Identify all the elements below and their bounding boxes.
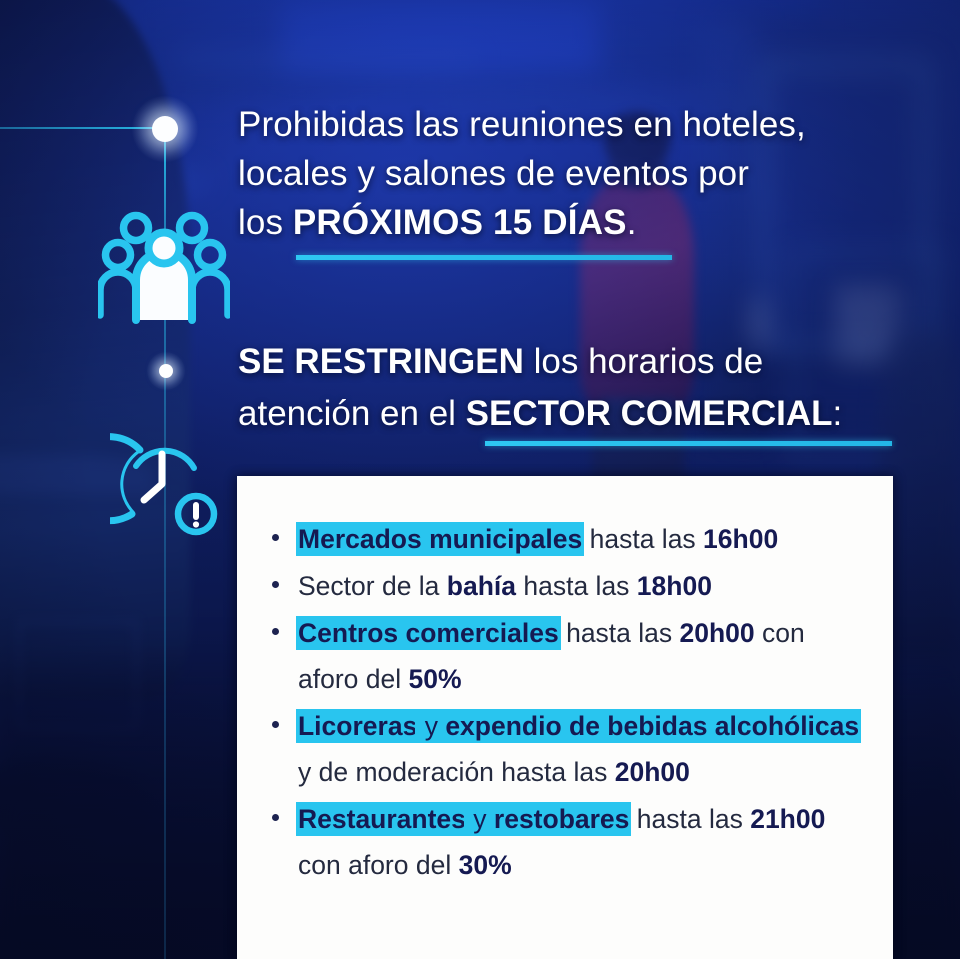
headline2-line-2: atención en el SECTOR COMERCIAL: <box>238 388 918 440</box>
restriction-text: hasta las <box>582 524 703 554</box>
restriction-text: Sector de la <box>298 571 447 601</box>
restriction-highlight-a: Licoreras <box>298 711 417 741</box>
restriction-text: con aforo del <box>298 850 459 880</box>
restriction-emphasis: bahía <box>447 571 516 601</box>
accent-rule-secondary <box>485 441 892 446</box>
restrictions-list: Mercados municipales hasta las 16h00 Sec… <box>270 516 870 889</box>
restriction-highlight-join: y <box>466 804 494 834</box>
restriction-capacity: 50% <box>409 664 462 694</box>
headline2-colon: : <box>833 394 843 433</box>
headline-emphasis-dias: PRÓXIMOS 15 DÍAS <box>293 203 627 242</box>
headline2-mid-2: atención en el <box>238 394 466 433</box>
bullet-icon <box>272 814 279 821</box>
bullet-icon <box>272 534 279 541</box>
restriction-text: hasta las <box>559 618 680 648</box>
list-item: Licoreras y expendio de bebidas alcohóli… <box>270 703 870 795</box>
restriction-highlight: Mercados municipales <box>298 524 582 554</box>
restriction-highlight: Centros comerciales <box>298 618 559 648</box>
headline-period: . <box>627 203 637 242</box>
glow-node-small-icon <box>147 352 185 390</box>
bullet-icon <box>272 581 279 588</box>
glow-node-icon <box>132 96 198 162</box>
clock-alert-icon <box>110 428 218 536</box>
infographic-poster: Prohibidas las reuniones en hoteles, loc… <box>0 0 960 959</box>
restrictions-card: Mercados municipales hasta las 16h00 Sec… <box>237 476 893 959</box>
restriction-highlight-join: y <box>417 711 445 741</box>
restriction-time: 18h00 <box>637 571 712 601</box>
headline2-emphasis-restringen: SE RESTRINGEN <box>238 342 524 381</box>
restriction-highlight-b: restobares <box>494 804 630 834</box>
headline2-mid-1: los horarios de <box>524 342 763 381</box>
restriction-text: hasta las <box>629 804 750 834</box>
people-group-icon <box>98 208 230 326</box>
restriction-text: y de moderación hasta las <box>298 757 615 787</box>
list-item: Sector de la bahía hasta las 18h00 <box>270 563 870 609</box>
accent-rule-primary <box>296 255 672 260</box>
restriction-time: 20h00 <box>615 757 690 787</box>
headline-secondary: SE RESTRINGEN los horarios de atención e… <box>238 336 918 440</box>
bullet-icon <box>272 628 279 635</box>
restriction-time: 20h00 <box>680 618 755 648</box>
restriction-capacity: 30% <box>459 850 512 880</box>
headline-line-1: Prohibidas las reuniones en hoteles, <box>238 100 918 149</box>
headline2-emphasis-sector: SECTOR COMERCIAL <box>466 394 833 433</box>
headline-primary: Prohibidas las reuniones en hoteles, loc… <box>238 100 918 247</box>
list-item: Centros comerciales hasta las 20h00 con … <box>270 610 870 702</box>
list-item: Mercados municipales hasta las 16h00 <box>270 516 870 562</box>
headline-line-2: locales y salones de eventos por <box>238 149 918 198</box>
headline-line-3: los PRÓXIMOS 15 DÍAS. <box>238 198 918 247</box>
bullet-icon <box>272 721 279 728</box>
headline-prefix: los <box>238 203 293 242</box>
list-item: Restaurantes y restobares hasta las 21h0… <box>270 796 870 888</box>
restriction-time: 16h00 <box>703 524 778 554</box>
restriction-text: hasta las <box>516 571 637 601</box>
restriction-time: 21h00 <box>750 804 825 834</box>
headline2-line-1: SE RESTRINGEN los horarios de <box>238 336 918 388</box>
restriction-highlight-b: expendio de bebidas alcohólicas <box>445 711 859 741</box>
restriction-highlight-a: Restaurantes <box>298 804 466 834</box>
